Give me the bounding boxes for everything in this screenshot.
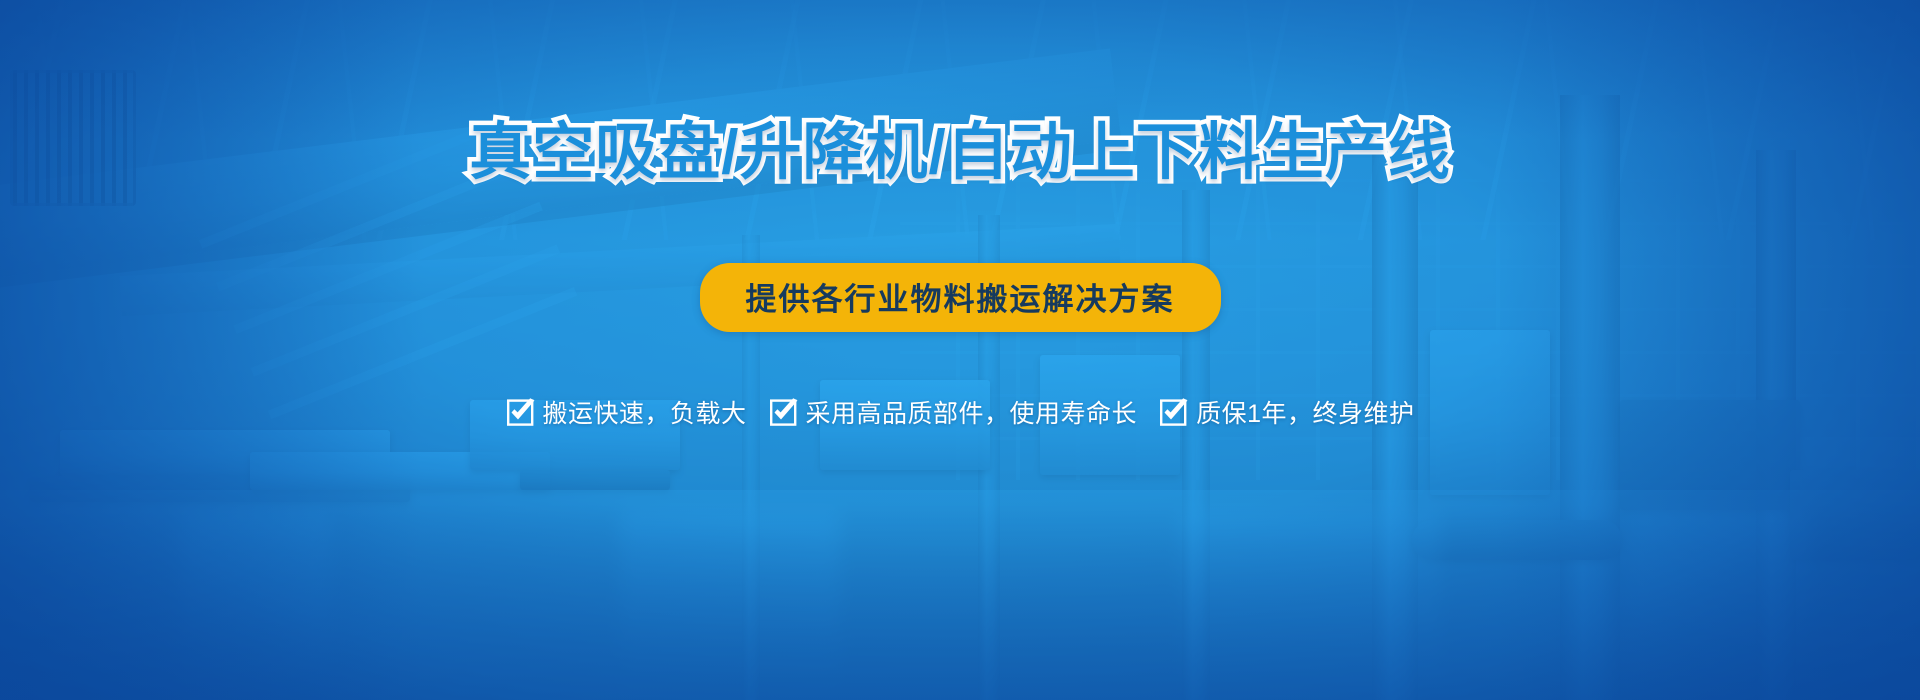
feature-item: 采用高品质部件，使用寿命长: [769, 394, 1138, 430]
feature-item: 质保1年，终身维护: [1159, 394, 1414, 430]
banner-headline: 真空吸盘/升降机/自动上下料生产线: [469, 118, 1450, 187]
checkbox-check-icon: [506, 397, 536, 427]
feature-item: 搬运快速，负载大: [506, 394, 747, 430]
checkbox-check-icon: [1159, 397, 1189, 427]
banner-content: 真空吸盘/升降机/自动上下料生产线 提供各行业物料搬运解决方案 搬运快速，负载大: [0, 0, 1920, 700]
checkbox-check-icon: [769, 397, 799, 427]
feature-label: 质保1年，终身维护: [1196, 394, 1414, 430]
feature-label: 采用高品质部件，使用寿命长: [806, 394, 1138, 430]
promo-banner: 真空吸盘/升降机/自动上下料生产线 提供各行业物料搬运解决方案 搬运快速，负载大: [0, 0, 1920, 700]
banner-subtitle-badge: 提供各行业物料搬运解决方案: [700, 263, 1221, 332]
feature-label: 搬运快速，负载大: [543, 394, 747, 430]
feature-list: 搬运快速，负载大 采用高品质部件，使用寿命长: [506, 394, 1415, 430]
